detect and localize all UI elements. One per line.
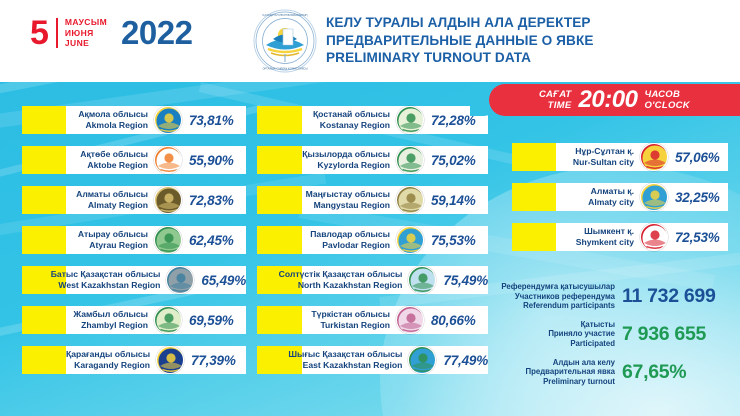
north-kazakhstan-emblem-icon (408, 266, 436, 294)
turnout-row: Атырау облысыAtyrau Region62,45% (22, 226, 246, 254)
region-name-kz: Шығыс Қазақстан облысы (288, 349, 402, 360)
turnout-percent: 62,45% (184, 233, 246, 248)
turnout-row: Алматы облысыAlmaty Region72,83% (22, 186, 246, 214)
turnout-row-content: Шымкент қ.Shymkent city72,53% (556, 223, 728, 251)
turnout-row-content: Ақтөбе облысыAktobe Region55,90% (66, 146, 246, 174)
date-year: 2022 (121, 16, 192, 50)
pavlodar-emblem-icon (396, 226, 424, 254)
time-label-en: TIME (548, 100, 572, 111)
region-name: Павлодар облысыPavlodar Region (310, 229, 394, 250)
turnout-row-content: Қостанай облысыKostanay Region72,28% (302, 106, 488, 134)
date-month-en: JUNE (65, 38, 107, 49)
date-divider (56, 18, 58, 48)
turnout-row: Шығыс Қазақстан облысыEast Kazakhstan Re… (257, 346, 488, 374)
region-name: Қостанай облысыKostanay Region (313, 109, 394, 130)
almaty-region-emblem-icon (154, 186, 182, 214)
turnout-row-content: Шығыс Қазақстан облысыEast Kazakhstan Re… (302, 346, 488, 374)
cec-kazakhstan-seal-icon: ҚАЗАҚСТАН РЕСПУБЛИКАСЫНЫҢ ОРТАЛЫҚ САЙЛАУ… (253, 9, 317, 73)
region-name-en: Aktobe Region (87, 160, 148, 171)
zhambyl-emblem-icon (154, 306, 182, 334)
shymkent-emblem-icon (640, 223, 668, 251)
region-name-kz: Ақтөбе облысы (80, 149, 148, 160)
page-title-ru: ПРЕДВАРИТЕЛЬНЫЕ ДАННЫЕ О ЯВКЕ (326, 32, 594, 50)
region-name-en: Shymkent city (576, 237, 634, 248)
region-name: Ақмола облысыAkmola Region (78, 109, 152, 130)
date-block: 5 МАУСЫМ ИЮНЯ JUNE 2022 (30, 16, 192, 50)
region-name-en: Turkistan Region (320, 320, 390, 331)
summary-label-ru: Участников референдума (515, 292, 615, 302)
page-title: КЕЛУ ТУРАЛЫ АЛДЫН АЛА ДЕРЕКТЕР ПРЕДВАРИТ… (326, 14, 594, 67)
turnout-row: Түркістан облысыTurkistan Region80,66% (257, 306, 488, 334)
region-name-en: Karagandy Region (74, 360, 150, 371)
date-months: МАУСЫМ ИЮНЯ JUNE (65, 17, 107, 49)
turnout-row-content: Маңғыстау облысыMangystau Region59,14% (302, 186, 488, 214)
turnout-row-content: Алматы облысыAlmaty Region72,83% (66, 186, 246, 214)
region-name-en: Mangystau Region (314, 200, 390, 211)
region-name-en: Pavlodar Region (322, 240, 390, 251)
akmola-emblem-icon (154, 106, 182, 134)
region-name: Шымкент қ.Shymkent city (576, 226, 638, 247)
cities-column: Нұр-Сұлтан қ.Nur-Sultan city57,06%Алматы… (512, 143, 728, 263)
almaty-city-emblem-icon (640, 183, 668, 211)
region-name-kz: Шымкент қ. (584, 226, 634, 237)
summary-labels: Алдын ала келуПредварительная явкаPrelim… (500, 358, 622, 387)
summary-label-kz: Референдумға қатысушылар (501, 282, 615, 292)
region-name-en: Almaty city (588, 197, 634, 208)
summary-label-en: Participated (570, 339, 615, 349)
mangystau-emblem-icon (396, 186, 424, 214)
turnout-row-content: Қарағанды облысыKaragandy Region77,39% (66, 346, 246, 374)
region-name-en: East Kazakhstan Region (303, 360, 403, 371)
svg-text:ҚАЗАҚСТАН РЕСПУБЛИКАСЫНЫҢ: ҚАЗАҚСТАН РЕСПУБЛИКАСЫНЫҢ (263, 13, 308, 17)
turnout-percent: 75,49% (438, 273, 488, 288)
turnout-row: Жамбыл облысыZhambyl Region69,59% (22, 306, 246, 334)
turnout-percent: 65,49% (196, 273, 246, 288)
turnout-row-content: Түркістан облысыTurkistan Region80,66% (302, 306, 488, 334)
time-badge-labels: САҒАТ TIME (539, 89, 572, 111)
region-name-kz: Алматы қ. (591, 186, 634, 197)
turnout-row-content: Ақмола облысыAkmola Region73,81% (66, 106, 246, 134)
region-name-kz: Ақмола облысы (78, 109, 148, 120)
summary-row: Алдын ала келуПредварительная явкаPrelim… (500, 358, 738, 387)
region-name-kz: Маңғыстау облысы (306, 189, 390, 200)
region-name-en: Atyrau Region (89, 240, 148, 251)
turkistan-emblem-icon (396, 306, 424, 334)
region-name-kz: Солтүстік Қазақстан облысы (279, 269, 403, 280)
region-name-kz: Қызылорда облысы (302, 149, 390, 160)
turnout-row: Солтүстік Қазақстан облысыNorth Kazakhst… (257, 266, 488, 294)
turnout-percent: 75,02% (426, 153, 488, 168)
region-name: Солтүстік Қазақстан облысыNorth Kazakhst… (279, 269, 407, 290)
region-name: Маңғыстау облысыMangystau Region (306, 189, 394, 210)
time-value: 20:00 (579, 88, 638, 112)
regions-column-2: Қостанай облысыKostanay Region72,28%Қызы… (257, 106, 488, 386)
turnout-percent: 73,81% (184, 113, 246, 128)
west-kazakhstan-emblem-icon (166, 266, 194, 294)
region-name-en: Kyzylorda Region (317, 160, 390, 171)
region-name: Шығыс Қазақстан облысыEast Kazakhstan Re… (288, 349, 406, 370)
turnout-row-content: Атырау облысыAtyrau Region62,45% (66, 226, 246, 254)
turnout-row-content: Батыс Қазақстан облысыWest Kazakhstan Re… (66, 266, 246, 294)
region-name-kz: Павлодар облысы (310, 229, 390, 240)
date-day: 5 (30, 16, 48, 50)
turnout-row: Нұр-Сұлтан қ.Nur-Sultan city57,06% (512, 143, 728, 171)
turnout-percent: 77,49% (438, 353, 488, 368)
atyrau-emblem-icon (154, 226, 182, 254)
region-name-kz: Нұр-Сұлтан қ. (575, 146, 634, 157)
turnout-row: Ақтөбе облысыAktobe Region55,90% (22, 146, 246, 174)
header: 5 МАУСЫМ ИЮНЯ JUNE 2022 ҚАЗАҚСТАН РЕСПУБ… (0, 0, 740, 82)
summary-row: ҚатыстыПриняло участиеParticipated7 936 … (500, 320, 738, 349)
region-name-kz: Қарағанды облысы (66, 349, 150, 360)
region-name: Алматы облысыAlmaty Region (76, 189, 152, 210)
region-name: Батыс Қазақстан облысыWest Kazakhstan Re… (51, 269, 165, 290)
infographic-page: 5 МАУСЫМ ИЮНЯ JUNE 2022 ҚАЗАҚСТАН РЕСПУБ… (0, 0, 740, 416)
region-name-en: Almaty Region (88, 200, 148, 211)
turnout-row: Маңғыстау облысыMangystau Region59,14% (257, 186, 488, 214)
summary-value: 7 936 655 (622, 324, 706, 344)
region-name-en: Kostanay Region (320, 120, 390, 131)
turnout-row: Батыс Қазақстан облысыWest Kazakhstan Re… (22, 266, 246, 294)
region-name-en: West Kazakhstan Region (58, 280, 160, 291)
region-name-en: Akmola Region (85, 120, 148, 131)
region-name-kz: Алматы облысы (76, 189, 148, 200)
region-name-kz: Қостанай облысы (313, 109, 390, 120)
region-name: Алматы қ.Almaty city (588, 186, 638, 207)
nur-sultan-emblem-icon (640, 143, 668, 171)
karagandy-emblem-icon (156, 346, 184, 374)
date-month-kz: МАУСЫМ (65, 17, 107, 28)
turnout-row-content: Қызылорда облысыKyzylorda Region75,02% (302, 146, 488, 174)
turnout-percent: 55,90% (184, 153, 246, 168)
turnout-row: Қостанай облысыKostanay Region72,28% (257, 106, 488, 134)
region-name: Қарағанды облысыKaragandy Region (66, 349, 154, 370)
region-name-kz: Жамбыл облысы (73, 309, 148, 320)
page-title-en: PRELIMINARY TURNOUT DATA (326, 49, 594, 67)
region-name-en: Nur-Sultan city (573, 157, 634, 168)
turnout-row: Қарағанды облысыKaragandy Region77,39% (22, 346, 246, 374)
summary-label-en: Preliminary turnout (543, 377, 615, 387)
page-title-kz: КЕЛУ ТУРАЛЫ АЛДЫН АЛА ДЕРЕКТЕР (326, 14, 594, 32)
region-name-kz: Атырау облысы (78, 229, 148, 240)
summary-value: 67,65% (622, 362, 686, 382)
turnout-percent: 59,14% (426, 193, 488, 208)
time-label-kz: САҒАТ (539, 89, 572, 100)
summary-labels: Референдумға қатысушыларУчастников рефер… (500, 282, 622, 311)
turnout-percent: 80,66% (426, 313, 488, 328)
turnout-percent: 72,53% (670, 230, 728, 245)
summary-label-ru: Приняло участие (548, 329, 615, 339)
turnout-row: Шымкент қ.Shymkent city72,53% (512, 223, 728, 251)
summary-label-ru: Предварительная явка (526, 367, 615, 377)
region-name-en: North Kazakhstan Region (298, 280, 403, 291)
time-badge: САҒАТ TIME 20:00 ЧАСОВ O'CLOCK (489, 84, 740, 116)
summary-labels: ҚатыстыПриняло участиеParticipated (500, 320, 622, 349)
turnout-percent: 75,53% (426, 233, 488, 248)
region-name: Жамбыл облысыZhambyl Region (73, 309, 152, 330)
region-name-kz: Батыс Қазақстан облысы (51, 269, 161, 280)
turnout-percent: 77,39% (186, 353, 246, 368)
turnout-row-content: Солтүстік Қазақстан облысыNorth Kazakhst… (302, 266, 488, 294)
time-suffix-en: O'CLOCK (644, 100, 690, 111)
aktobe-emblem-icon (154, 146, 182, 174)
kostanay-emblem-icon (396, 106, 424, 134)
region-name-kz: Түркістан облысы (311, 309, 390, 320)
turnout-row: Павлодар облысыPavlodar Region75,53% (257, 226, 488, 254)
region-name: Түркістан облысыTurkistan Region (311, 309, 394, 330)
region-name: Атырау облысыAtyrau Region (78, 229, 152, 250)
summary-label-kz: Алдын ала келу (553, 358, 615, 368)
region-name: Нұр-Сұлтан қ.Nur-Sultan city (573, 146, 638, 167)
turnout-row-content: Павлодар облысыPavlodar Region75,53% (302, 226, 488, 254)
region-name-en: Zhambyl Region (81, 320, 148, 331)
turnout-row: Алматы қ.Almaty city32,25% (512, 183, 728, 211)
summary-label-kz: Қатысты (581, 320, 615, 330)
region-name: Ақтөбе облысыAktobe Region (80, 149, 152, 170)
turnout-row: Ақмола облысыAkmola Region73,81% (22, 106, 246, 134)
turnout-percent: 69,59% (184, 313, 246, 328)
turnout-row-content: Нұр-Сұлтан қ.Nur-Sultan city57,06% (556, 143, 728, 171)
summary-statistics: Референдумға қатысушыларУчастников рефер… (500, 282, 738, 395)
turnout-percent: 57,06% (670, 150, 728, 165)
summary-value: 11 732 699 (622, 286, 716, 306)
time-badge-suffix: ЧАСОВ O'CLOCK (644, 89, 690, 111)
summary-label-en: Referendum participants (523, 301, 615, 311)
east-kazakhstan-emblem-icon (408, 346, 436, 374)
regions-column-1: Ақмола облысыAkmola Region73,81%Ақтөбе о… (22, 106, 246, 386)
turnout-percent: 32,25% (670, 190, 728, 205)
summary-row: Референдумға қатысушыларУчастников рефер… (500, 282, 738, 311)
turnout-row-content: Жамбыл облысыZhambyl Region69,59% (66, 306, 246, 334)
date-month-ru: ИЮНЯ (65, 28, 107, 39)
turnout-row-content: Алматы қ.Almaty city32,25% (556, 183, 728, 211)
region-name: Қызылорда облысыKyzylorda Region (302, 149, 394, 170)
turnout-row: Қызылорда облысыKyzylorda Region75,02% (257, 146, 488, 174)
kyzylorda-emblem-icon (396, 146, 424, 174)
time-suffix-ru: ЧАСОВ (644, 89, 680, 100)
turnout-percent: 72,83% (184, 193, 246, 208)
